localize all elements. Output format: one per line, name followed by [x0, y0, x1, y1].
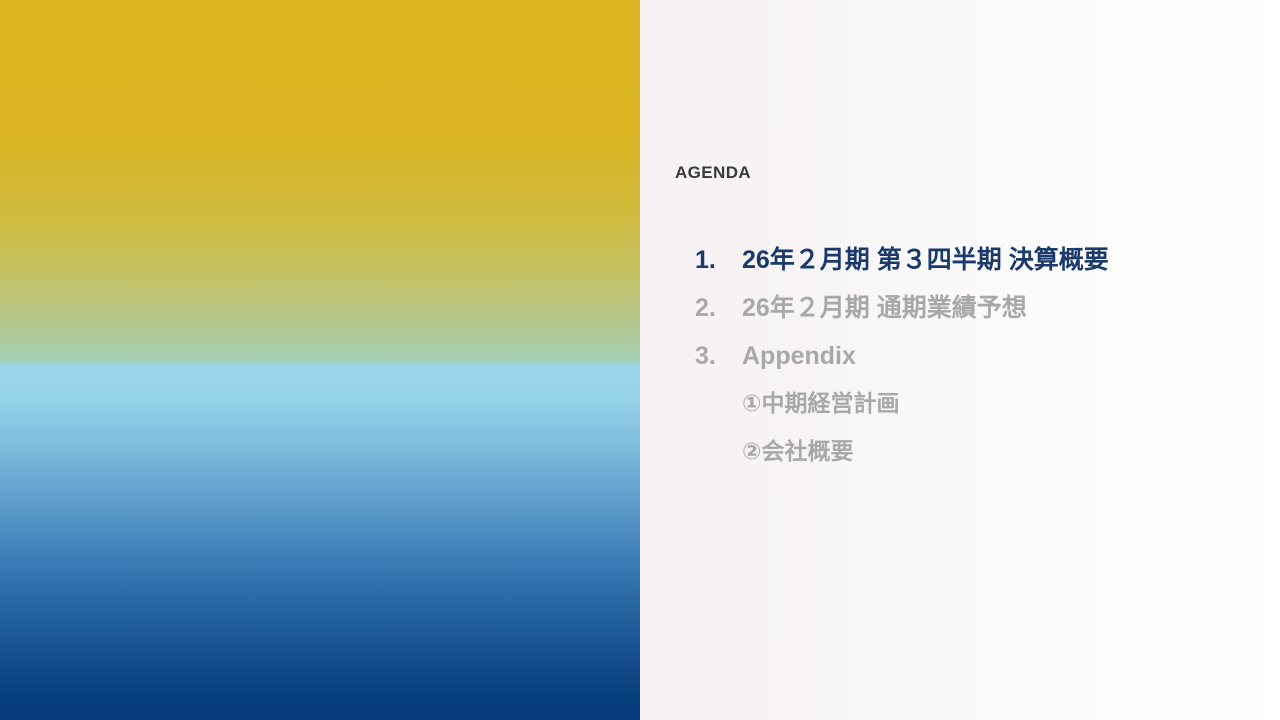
agenda-subitem-2-label: ②会社概要 — [742, 440, 853, 463]
agenda-slide: AGENDA 1. 26年２月期 第３四半期 決算概要 2. 26年２月期 通期… — [0, 0, 1280, 720]
agenda-item-2-number: 2. — [695, 296, 742, 321]
gradient-image-panel — [0, 0, 640, 720]
agenda-subitem-1[interactable]: ①中期経営計画 — [640, 392, 1280, 440]
agenda-item-1-number: 1. — [695, 248, 742, 273]
agenda-item-1[interactable]: 1. 26年２月期 第３四半期 決算概要 — [640, 248, 1280, 296]
agenda-item-3[interactable]: 3. Appendix — [640, 344, 1280, 392]
agenda-item-1-label: 26年２月期 第３四半期 決算概要 — [742, 248, 1109, 273]
section-label: AGENDA — [675, 163, 751, 183]
agenda-item-2[interactable]: 2. 26年２月期 通期業績予想 — [640, 296, 1280, 344]
agenda-item-3-label: Appendix — [742, 344, 856, 369]
agenda-item-2-label: 26年２月期 通期業績予想 — [742, 296, 1027, 321]
agenda-item-3-number: 3. — [695, 344, 742, 369]
agenda-subitem-2[interactable]: ②会社概要 — [640, 440, 1280, 488]
agenda-content-panel: AGENDA 1. 26年２月期 第３四半期 決算概要 2. 26年２月期 通期… — [640, 0, 1280, 720]
agenda-subitem-1-label: ①中期経営計画 — [742, 392, 899, 415]
agenda-list: 1. 26年２月期 第３四半期 決算概要 2. 26年２月期 通期業績予想 3.… — [640, 248, 1280, 488]
